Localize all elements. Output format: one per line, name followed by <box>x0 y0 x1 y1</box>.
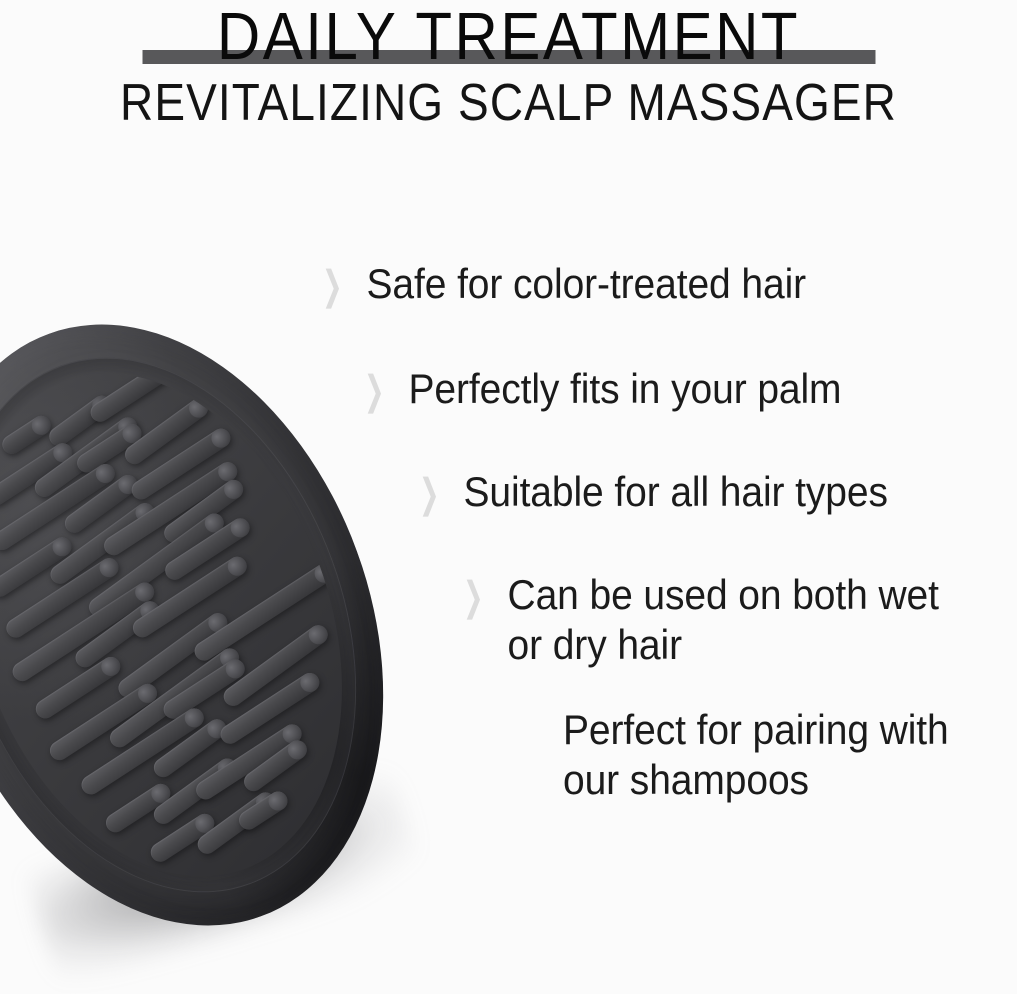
feature-item-1: ❯ Safe for color-treated hair <box>322 260 806 312</box>
chevron-right-icon: ❯ <box>322 255 343 316</box>
feature-label-4-line-1: Can be used on both wet <box>508 573 939 619</box>
feature-list: ❯ Safe for color-treated hair ❯ Perfectl… <box>0 248 1017 818</box>
chevron-right-icon: ❯ <box>419 463 440 524</box>
feature-label-2: Perfectly fits in your palm <box>409 365 842 415</box>
feature-label-5-line-1: Perfect for pairing with <box>563 708 949 754</box>
feature-item-2: ❯ Perfectly fits in your palm <box>364 365 841 417</box>
page-subtitle: REVITALIZING SCALP MASSAGER <box>0 74 1017 130</box>
header-block: DAILY TREATMENT REVITALIZING SCALP MASSA… <box>0 0 1017 140</box>
feature-label-5-line-2: our shampoos <box>563 758 809 804</box>
feature-item-3: ❯ Suitable for all hair types <box>419 468 888 520</box>
chevron-right-icon: ❯ <box>364 360 385 421</box>
feature-label-1: Safe for color-treated hair <box>367 260 807 310</box>
title-wrap: DAILY TREATMENT <box>217 2 800 64</box>
feature-item-4: ❯ Can be used on both wet or dry hair <box>463 571 939 665</box>
product-infographic: DAILY TREATMENT REVITALIZING SCALP MASSA… <box>0 0 1017 994</box>
feature-label-5: Perfect for pairing with our shampoos <box>563 706 949 806</box>
page-title: DAILY TREATMENT <box>217 2 800 71</box>
feature-label-4: Can be used on both wet or dry hair <box>508 571 939 671</box>
feature-label-4-line-2: or dry hair <box>508 623 682 669</box>
feature-item-5: ❯ Perfect for pairing with our shampoos <box>563 706 949 800</box>
feature-label-3: Suitable for all hair types <box>464 468 888 518</box>
chevron-right-icon: ❯ <box>463 566 484 627</box>
